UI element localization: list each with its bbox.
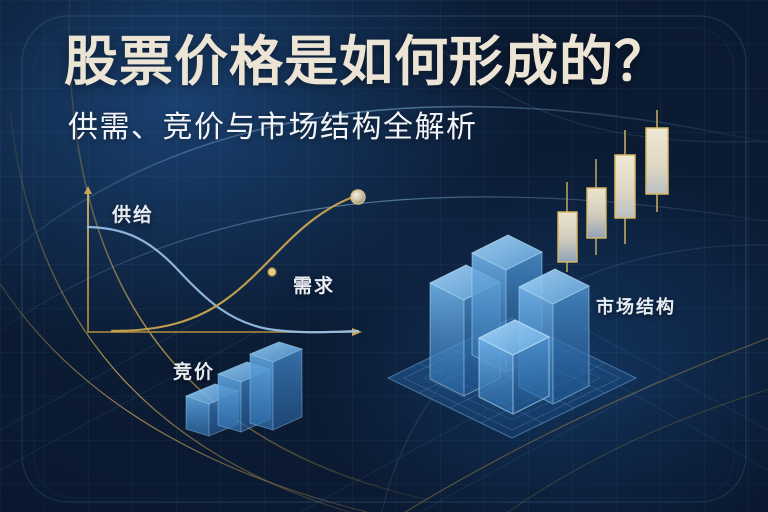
decor-line-gold-4	[360, 330, 768, 512]
candlestick-1	[558, 182, 577, 272]
bidding-bar-3	[250, 342, 302, 430]
decor-frame-inner	[34, 28, 734, 498]
decor-arc-gold-3	[0, 230, 520, 512]
market-bar-c	[479, 320, 549, 414]
market-bar-d	[519, 269, 589, 404]
candlestick-4	[646, 110, 668, 212]
market-bar-a	[430, 265, 500, 396]
candlestick-2	[587, 159, 606, 255]
y-axis-arrow	[84, 186, 92, 194]
demand-endpoint-marker	[351, 190, 365, 204]
x-axis-arrow	[352, 328, 362, 336]
equilibrium-point-marker	[268, 268, 276, 276]
decor-arc-blue-3	[380, 245, 768, 512]
page-subtitle: 供需、竞价与市场结构全解析	[68, 110, 478, 146]
bidding-bar-1	[186, 384, 238, 436]
isometric-platform	[388, 318, 636, 438]
candlestick-3	[615, 130, 635, 244]
market-bar-b	[472, 235, 542, 372]
label-supply: 供给	[112, 200, 154, 227]
page-title: 股票价格是如何形成的？	[64, 34, 669, 91]
label-market-structure: 市场结构	[596, 293, 676, 319]
label-bidding: 竞价	[173, 357, 215, 384]
bidding-bar-2	[218, 362, 270, 432]
decor-line-gold-5	[470, 380, 768, 512]
poster-canvas: 股票价格是如何形成的？ 供需、竞价与市场结构全解析 供给 需求 竞价 市场结构	[0, 0, 768, 512]
decor-iso-lines	[0, 315, 768, 512]
decor-arc-gold-2	[10, 110, 420, 512]
label-demand: 需求	[293, 271, 335, 298]
background-glow-center-right	[307, 154, 768, 512]
